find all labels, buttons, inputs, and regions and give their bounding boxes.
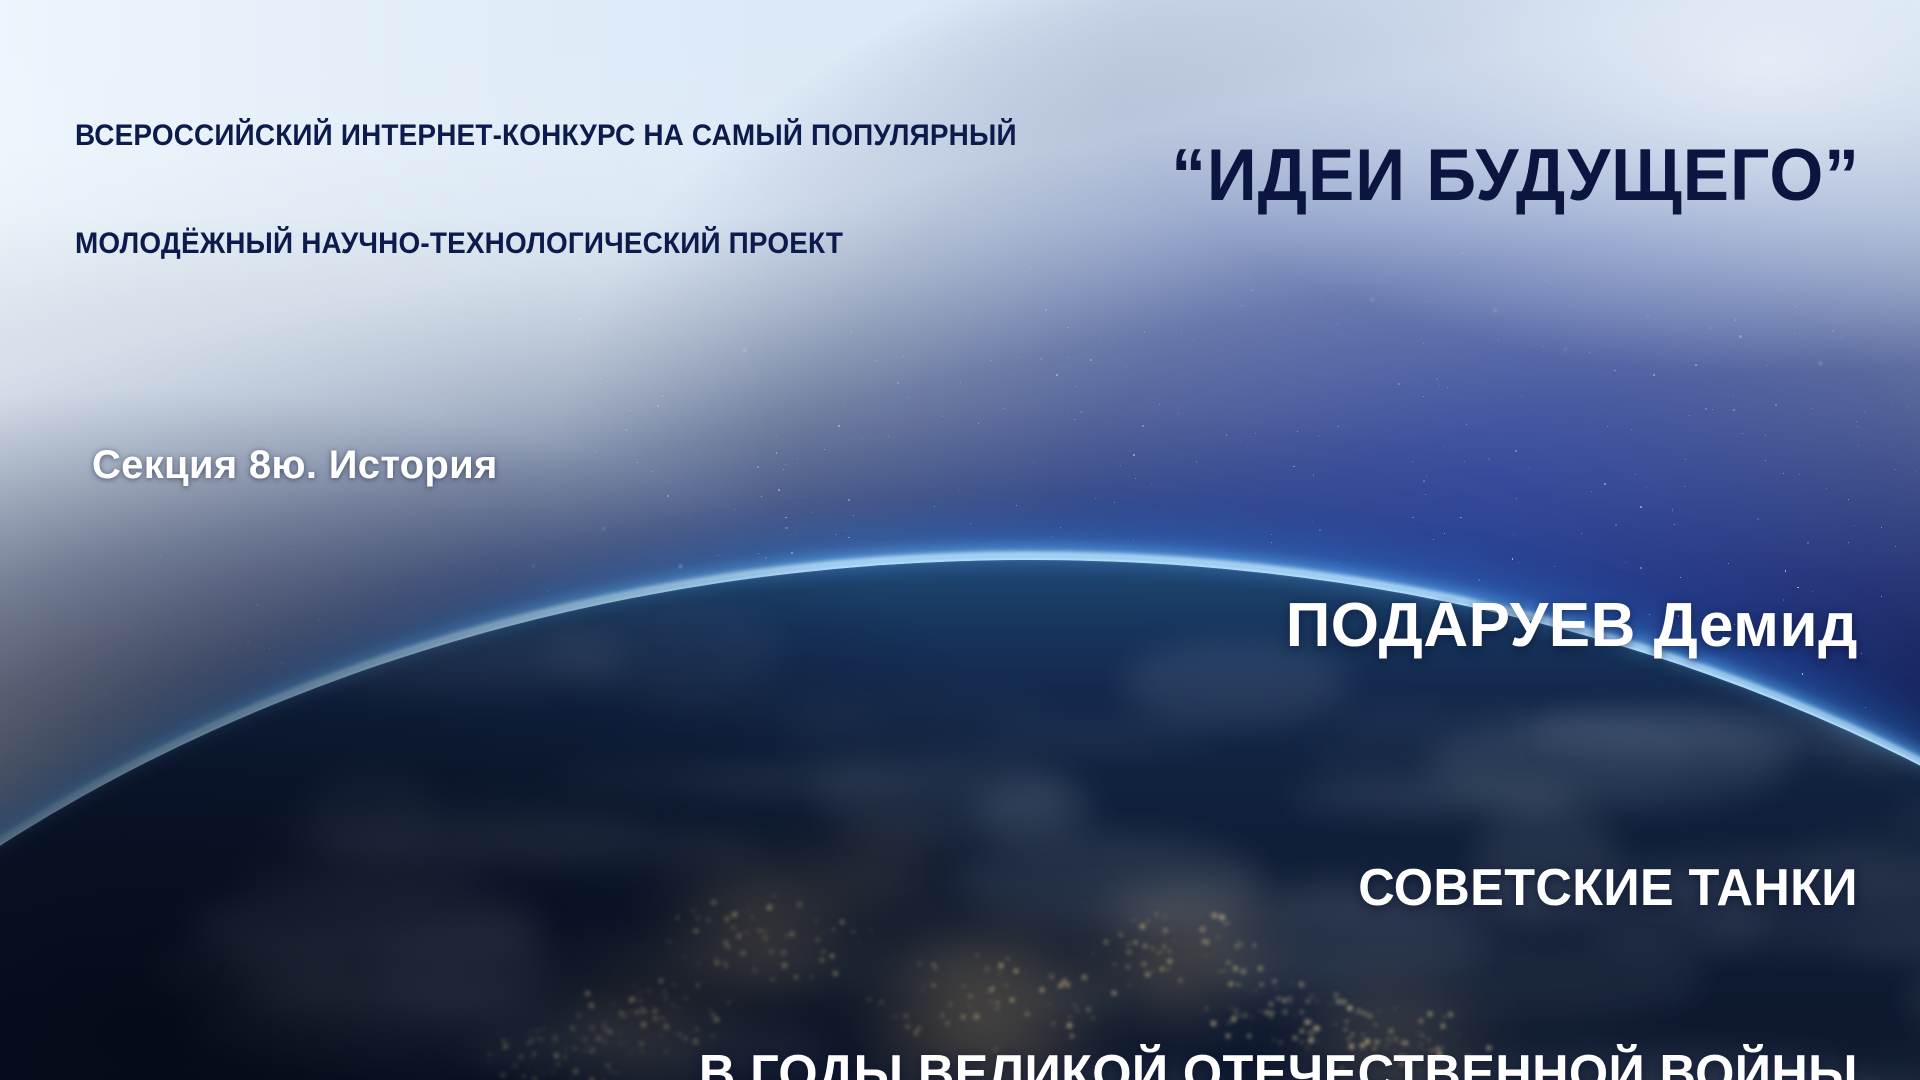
presentation-slide: ВСЕРОССИЙСКИЙ ИНТЕРНЕТ-КОНКУРС НА САМЫЙ … bbox=[0, 0, 1920, 1080]
contest-header-line-1: ВСЕРОССИЙСКИЙ ИНТЕРНЕТ-КОНКУРС НА САМЫЙ … bbox=[75, 118, 1017, 154]
contest-title: “ИДЕИ БУДУЩЕГО” bbox=[1171, 136, 1860, 216]
author-name: ПОДАРУЕВ Демид bbox=[1286, 589, 1858, 663]
contest-header: ВСЕРОССИЙСКИЙ ИНТЕРНЕТ-КОНКУРС НА САМЫЙ … bbox=[75, 46, 1017, 334]
project-title-line-1: СОВЕТСКИЕ ТАНКИ bbox=[699, 857, 1858, 919]
contest-header-line-2: МОЛОДЁЖНЫЙ НАУЧНО-ТЕХНОЛОГИЧЕСКИЙ ПРОЕКТ bbox=[75, 226, 1017, 262]
project-title-line-2: В ГОДЫ ВЕЛИКОЙ ОТЕЧЕСТВЕННОЙ ВОЙНЫ bbox=[699, 1043, 1858, 1080]
section-label: Секция 8ю. История bbox=[92, 440, 498, 490]
project-title: СОВЕТСКИЕ ТАНКИ В ГОДЫ ВЕЛИКОЙ ОТЕЧЕСТВЕ… bbox=[699, 733, 1858, 1080]
